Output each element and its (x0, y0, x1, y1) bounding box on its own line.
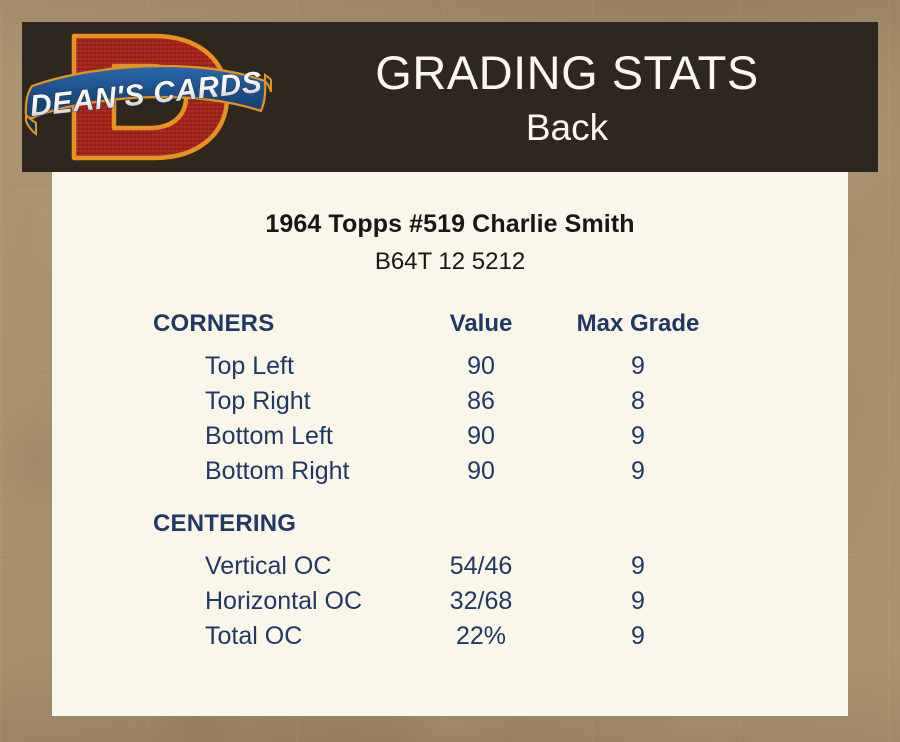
row-value: 90 (404, 457, 558, 486)
row-value: 90 (404, 352, 558, 381)
row-label: Vertical OC (52, 552, 404, 581)
row-label: Top Left (52, 352, 404, 381)
row-label: Bottom Right (52, 457, 404, 486)
table-row: Top Left 90 9 (52, 352, 848, 387)
section-header-corners: CORNERS Value Max Grade (52, 310, 848, 352)
deans-cards-logo[interactable]: DEAN'S CARDS (22, 22, 274, 172)
row-value: 90 (404, 422, 558, 451)
row-max-grade: 8 (558, 387, 718, 416)
header-bar: DEAN'S CARDS GRADING STATS Back (22, 22, 878, 172)
row-value: 32/68 (404, 587, 558, 616)
table-row: Vertical OC 54/46 9 (52, 552, 848, 587)
page-subtitle: Back (274, 109, 860, 146)
row-value: 54/46 (404, 552, 558, 581)
column-header-value: Value (404, 310, 558, 338)
row-max-grade: 9 (558, 552, 718, 581)
grading-stats-table: CORNERS Value Max Grade Top Left 90 9 To… (52, 310, 848, 657)
row-value: 86 (404, 387, 558, 416)
table-row: Bottom Left 90 9 (52, 422, 848, 457)
page-title: GRADING STATS (274, 49, 860, 96)
row-max-grade: 9 (558, 352, 718, 381)
deans-cards-logo-svg: DEAN'S CARDS (22, 22, 274, 172)
section-header-centering: CENTERING (52, 510, 848, 552)
column-header-max-grade: Max Grade (558, 310, 718, 338)
section-title-centering: CENTERING (52, 510, 404, 538)
row-label: Horizontal OC (52, 587, 404, 616)
table-row: Bottom Right 90 9 (52, 457, 848, 492)
row-label: Total OC (52, 622, 404, 651)
header-titles: GRADING STATS Back (274, 49, 878, 146)
row-label: Top Right (52, 387, 404, 416)
card-code: B64T 12 5212 (52, 248, 848, 276)
row-label: Bottom Left (52, 422, 404, 451)
row-max-grade: 9 (558, 622, 718, 651)
card-heading: 1964 Topps #519 Charlie Smith B64T 12 52… (52, 172, 848, 276)
row-max-grade: 9 (558, 422, 718, 451)
table-row: Total OC 22% 9 (52, 622, 848, 657)
section-spacer (52, 492, 848, 510)
card-title: 1964 Topps #519 Charlie Smith (52, 210, 848, 239)
row-max-grade: 9 (558, 457, 718, 486)
table-row: Top Right 86 8 (52, 387, 848, 422)
table-row: Horizontal OC 32/68 9 (52, 587, 848, 622)
section-title-corners: CORNERS (52, 310, 404, 338)
stats-panel: 1964 Topps #519 Charlie Smith B64T 12 52… (52, 172, 848, 716)
row-value: 22% (404, 622, 558, 651)
row-max-grade: 9 (558, 587, 718, 616)
